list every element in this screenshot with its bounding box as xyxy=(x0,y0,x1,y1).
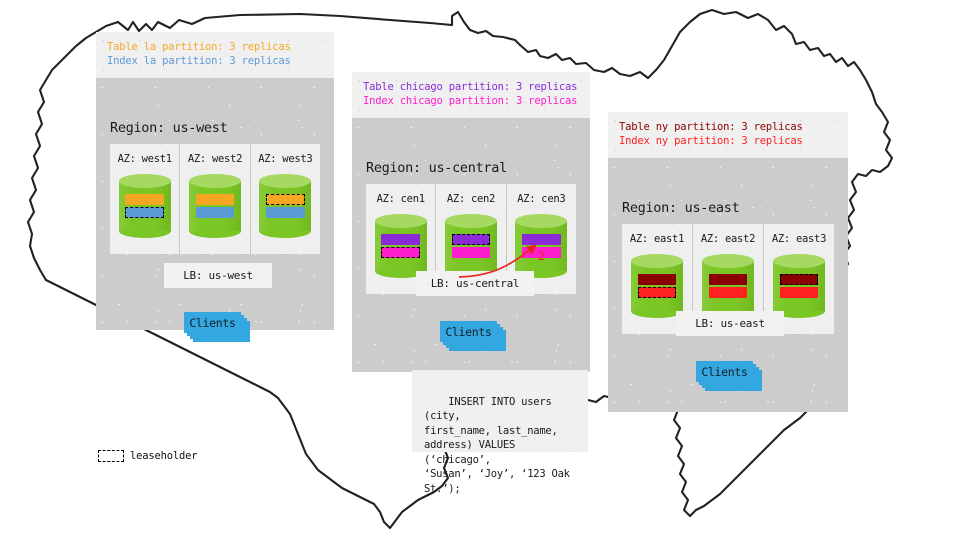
replica-band-index xyxy=(780,287,818,298)
replica-band-table xyxy=(522,234,560,245)
region-panel-us-west: Table la partition: 3 replicas Index la … xyxy=(96,32,334,330)
database-cylinder-west3[interactable] xyxy=(259,174,311,238)
clients-stack-us-central[interactable]: Clients xyxy=(440,321,506,351)
cylinder-shading xyxy=(773,261,825,311)
database-cylinder-cen3[interactable] xyxy=(515,214,567,278)
az-label-east3: AZ: east3 xyxy=(772,233,826,245)
table-partition-label: Table ny partition: 3 replicas xyxy=(619,121,837,135)
load-balancer-us-east[interactable]: LB: us-east xyxy=(676,311,784,336)
az-label-east2: AZ: east2 xyxy=(701,233,755,245)
cylinder-top xyxy=(773,254,825,268)
replica-band-index-leaseholder xyxy=(125,207,163,218)
region-header-us-west: Table la partition: 3 replicas Index la … xyxy=(96,32,334,78)
load-balancer-us-west[interactable]: LB: us-west xyxy=(164,263,272,288)
az-label-cen2: AZ: cen2 xyxy=(447,193,495,205)
index-partition-label: Index chicago partition: 3 replicas xyxy=(363,95,579,109)
replica-band-table xyxy=(709,274,747,285)
az-label-west2: AZ: west2 xyxy=(188,153,242,165)
index-partition-label: Index ny partition: 3 replicas xyxy=(619,135,837,149)
region-title-us-west: Region: us-west xyxy=(110,120,227,136)
region-title-us-central: Region: us-central xyxy=(366,160,507,176)
az-cell-west1[interactable]: AZ: west1 xyxy=(110,144,180,254)
replica-band-index xyxy=(709,287,747,298)
leaseholder-legend-label: leaseholder xyxy=(130,450,197,462)
az-label-west1: AZ: west1 xyxy=(118,153,172,165)
cylinder-top xyxy=(119,174,171,188)
replica-band-index xyxy=(266,207,304,218)
database-cylinder-cen1[interactable] xyxy=(375,214,427,278)
az-label-east1: AZ: east1 xyxy=(630,233,684,245)
replica-band-index-leaseholder xyxy=(638,287,676,298)
table-partition-label: Table la partition: 3 replicas xyxy=(107,41,323,55)
annotation-number-2: 2 xyxy=(538,249,545,263)
database-cylinder-west1[interactable] xyxy=(119,174,171,238)
dashed-rect-icon xyxy=(98,450,124,462)
leaseholder-legend: leaseholder xyxy=(98,450,197,462)
cylinder-shading xyxy=(702,261,754,311)
diagram-canvas: Table la partition: 3 replicas Index la … xyxy=(0,0,960,540)
cylinder-shading xyxy=(515,221,567,271)
replica-band-table xyxy=(125,194,163,205)
region-header-us-east: Table ny partition: 3 replicas Index ny … xyxy=(608,112,848,158)
sql-insert-callout: INSERT INTO users (city, first_name, las… xyxy=(412,370,588,452)
cylinder-shading xyxy=(119,181,171,231)
replica-band-table-leaseholder xyxy=(780,274,818,285)
region-panel-us-east: Table ny partition: 3 replicas Index ny … xyxy=(608,112,848,412)
table-partition-label: Table chicago partition: 3 replicas xyxy=(363,81,579,95)
load-balancer-us-central[interactable]: LB: us-central xyxy=(416,271,534,296)
cylinder-top xyxy=(259,174,311,188)
clients-stack-us-west[interactable]: Clients xyxy=(184,312,250,342)
cylinder-shading xyxy=(259,181,311,231)
replica-band-index xyxy=(452,247,490,258)
region-panel-us-central: Table chicago partition: 3 replicas Inde… xyxy=(352,72,590,372)
cylinder-top xyxy=(375,214,427,228)
clients-button-us-central[interactable]: Clients xyxy=(440,321,497,342)
clients-button-us-west[interactable]: Clients xyxy=(184,312,241,333)
clients-button-us-east[interactable]: Clients xyxy=(696,361,753,382)
database-cylinder-east3[interactable] xyxy=(773,254,825,318)
replica-band-table xyxy=(196,194,234,205)
cylinder-shading xyxy=(189,181,241,231)
az-label-cen3: AZ: cen3 xyxy=(517,193,565,205)
region-title-us-east: Region: us-east xyxy=(622,200,739,216)
cylinder-top xyxy=(631,254,683,268)
cylinder-top xyxy=(445,214,497,228)
index-partition-label: Index la partition: 3 replicas xyxy=(107,55,323,69)
cylinder-top xyxy=(189,174,241,188)
cylinder-shading xyxy=(445,221,497,271)
sql-statement-text: INSERT INTO users (city, first_name, las… xyxy=(424,396,570,495)
replica-band-index-leaseholder xyxy=(381,247,419,258)
replica-band-table xyxy=(381,234,419,245)
az-container-us-west: AZ: west1 AZ: west2 xyxy=(110,144,320,254)
database-cylinder-west2[interactable] xyxy=(189,174,241,238)
replica-band-table xyxy=(638,274,676,285)
az-label-west3: AZ: west3 xyxy=(258,153,312,165)
cylinder-top xyxy=(515,214,567,228)
database-cylinder-cen2[interactable] xyxy=(445,214,497,278)
az-label-cen1: AZ: cen1 xyxy=(377,193,425,205)
cylinder-shading xyxy=(631,261,683,311)
replica-band-table-leaseholder xyxy=(452,234,490,245)
replica-band-table-leaseholder xyxy=(266,194,304,205)
cylinder-top xyxy=(702,254,754,268)
database-cylinder-east1[interactable] xyxy=(631,254,683,318)
database-cylinder-east2[interactable] xyxy=(702,254,754,318)
clients-stack-us-east[interactable]: Clients xyxy=(696,361,762,391)
az-cell-west3[interactable]: AZ: west3 xyxy=(251,144,320,254)
replica-band-index xyxy=(196,207,234,218)
az-cell-west2[interactable]: AZ: west2 xyxy=(180,144,250,254)
cylinder-shading xyxy=(375,221,427,271)
region-header-us-central: Table chicago partition: 3 replicas Inde… xyxy=(352,72,590,118)
